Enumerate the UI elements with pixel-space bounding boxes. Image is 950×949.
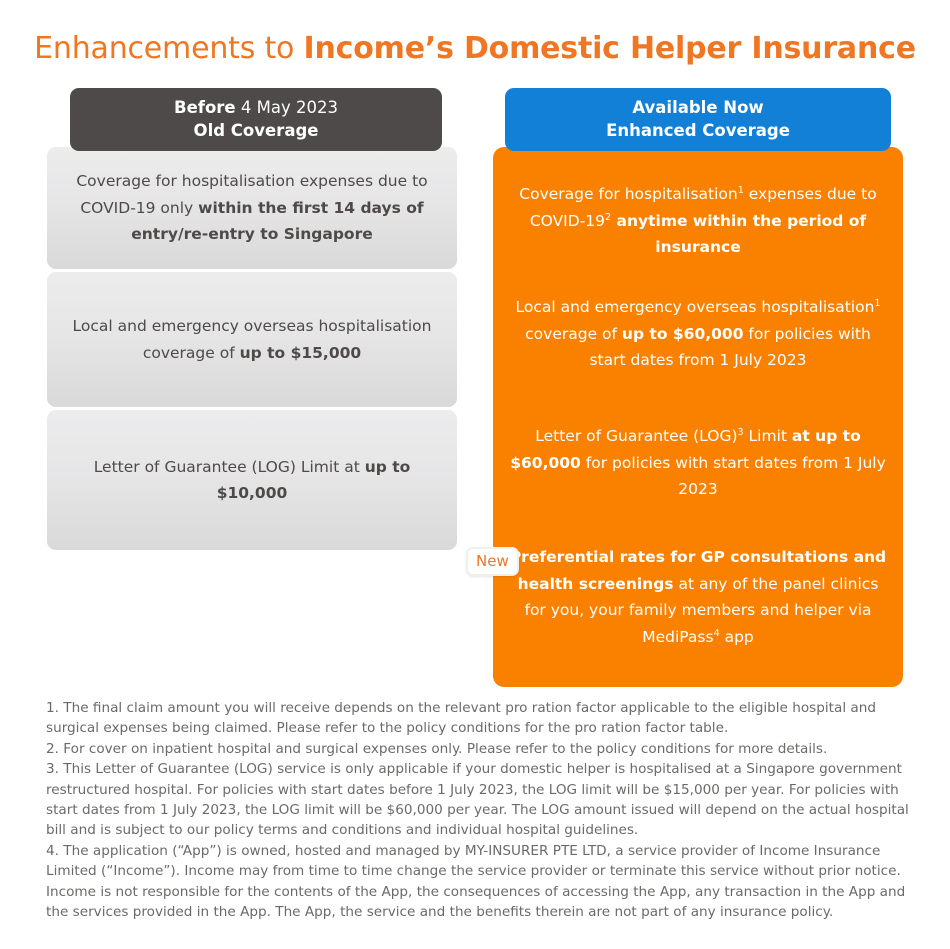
old-coverage-cards: Coverage for hospitalisation expenses du… [47,147,457,550]
new-block-log-d: for policies with start dates from 1 Jul… [581,454,886,499]
old-card-hospitalisation-bold: up to $15,000 [240,344,362,362]
new-block-preferential-rates: NewPreferential rates for GP consultatio… [507,531,889,663]
footnote-1: 1. The final claim amount you will recei… [46,698,912,739]
new-block-covid-bold: anytime within the period of insurance [611,212,866,257]
new-block-log-b: Limit [744,427,792,445]
new-block-preferential-c: app [720,628,754,646]
enhanced-coverage-header: Available Now Enhanced Coverage [505,88,891,151]
old-card-hospitalisation: Local and emergency overseas hospitalisa… [47,272,457,407]
new-block-log-a: Letter of Guarantee (LOG) [535,427,737,445]
old-header-before: Before [174,98,236,117]
page-title: Enhancements to Income’s Domestic Helper… [0,30,950,68]
enhanced-coverage-panel: Coverage for hospitalisation1 expenses d… [493,147,903,687]
new-badge: New [466,547,519,576]
old-card-covid: Coverage for hospitalisation expenses du… [47,147,457,269]
old-coverage-header: Before 4 May 2023 Old Coverage [70,88,442,151]
new-block-covid-a: Coverage for hospitalisation [519,185,737,203]
footnote-ref-1b: 1 [874,298,880,309]
old-card-log-plain: Letter of Guarantee (LOG) Limit at [94,458,365,476]
footnotes: 1. The final claim amount you will recei… [46,698,912,922]
new-block-log: Letter of Guarantee (LOG)3 Limit at up t… [507,395,889,531]
old-coverage-column: Before 4 May 2023 Old Coverage Coverage … [47,88,457,550]
page-title-strong: Income’s Domestic Helper Insurance [304,31,916,66]
enhanced-coverage-column: Available Now Enhanced Coverage Coverage… [493,88,903,687]
new-block-hospitalisation-a: Local and emergency overseas hospitalisa… [515,298,874,316]
enhanced-header-line1: Available Now [632,98,763,117]
footnote-2: 2. For cover on inpatient hospital and s… [46,739,912,759]
footnote-4: 4. The application (“App”) is owned, hos… [46,841,912,923]
new-block-hospitalisation: Local and emergency overseas hospitalisa… [507,273,889,395]
old-header-date: 4 May 2023 [236,98,338,117]
new-block-hospitalisation-bold: up to $60,000 [622,325,744,343]
infographic-page: Enhancements to Income’s Domestic Helper… [0,0,950,949]
new-block-hospitalisation-b: coverage of [525,325,622,343]
new-block-covid: Coverage for hospitalisation1 expenses d… [507,169,889,273]
footnote-3: 3. This Letter of Guarantee (LOG) servic… [46,759,912,841]
enhanced-header-line2: Enhanced Coverage [606,121,790,140]
old-header-subtitle: Old Coverage [194,121,319,140]
old-card-log: Letter of Guarantee (LOG) Limit at up to… [47,410,457,550]
page-title-lead: Enhancements to [34,31,303,66]
